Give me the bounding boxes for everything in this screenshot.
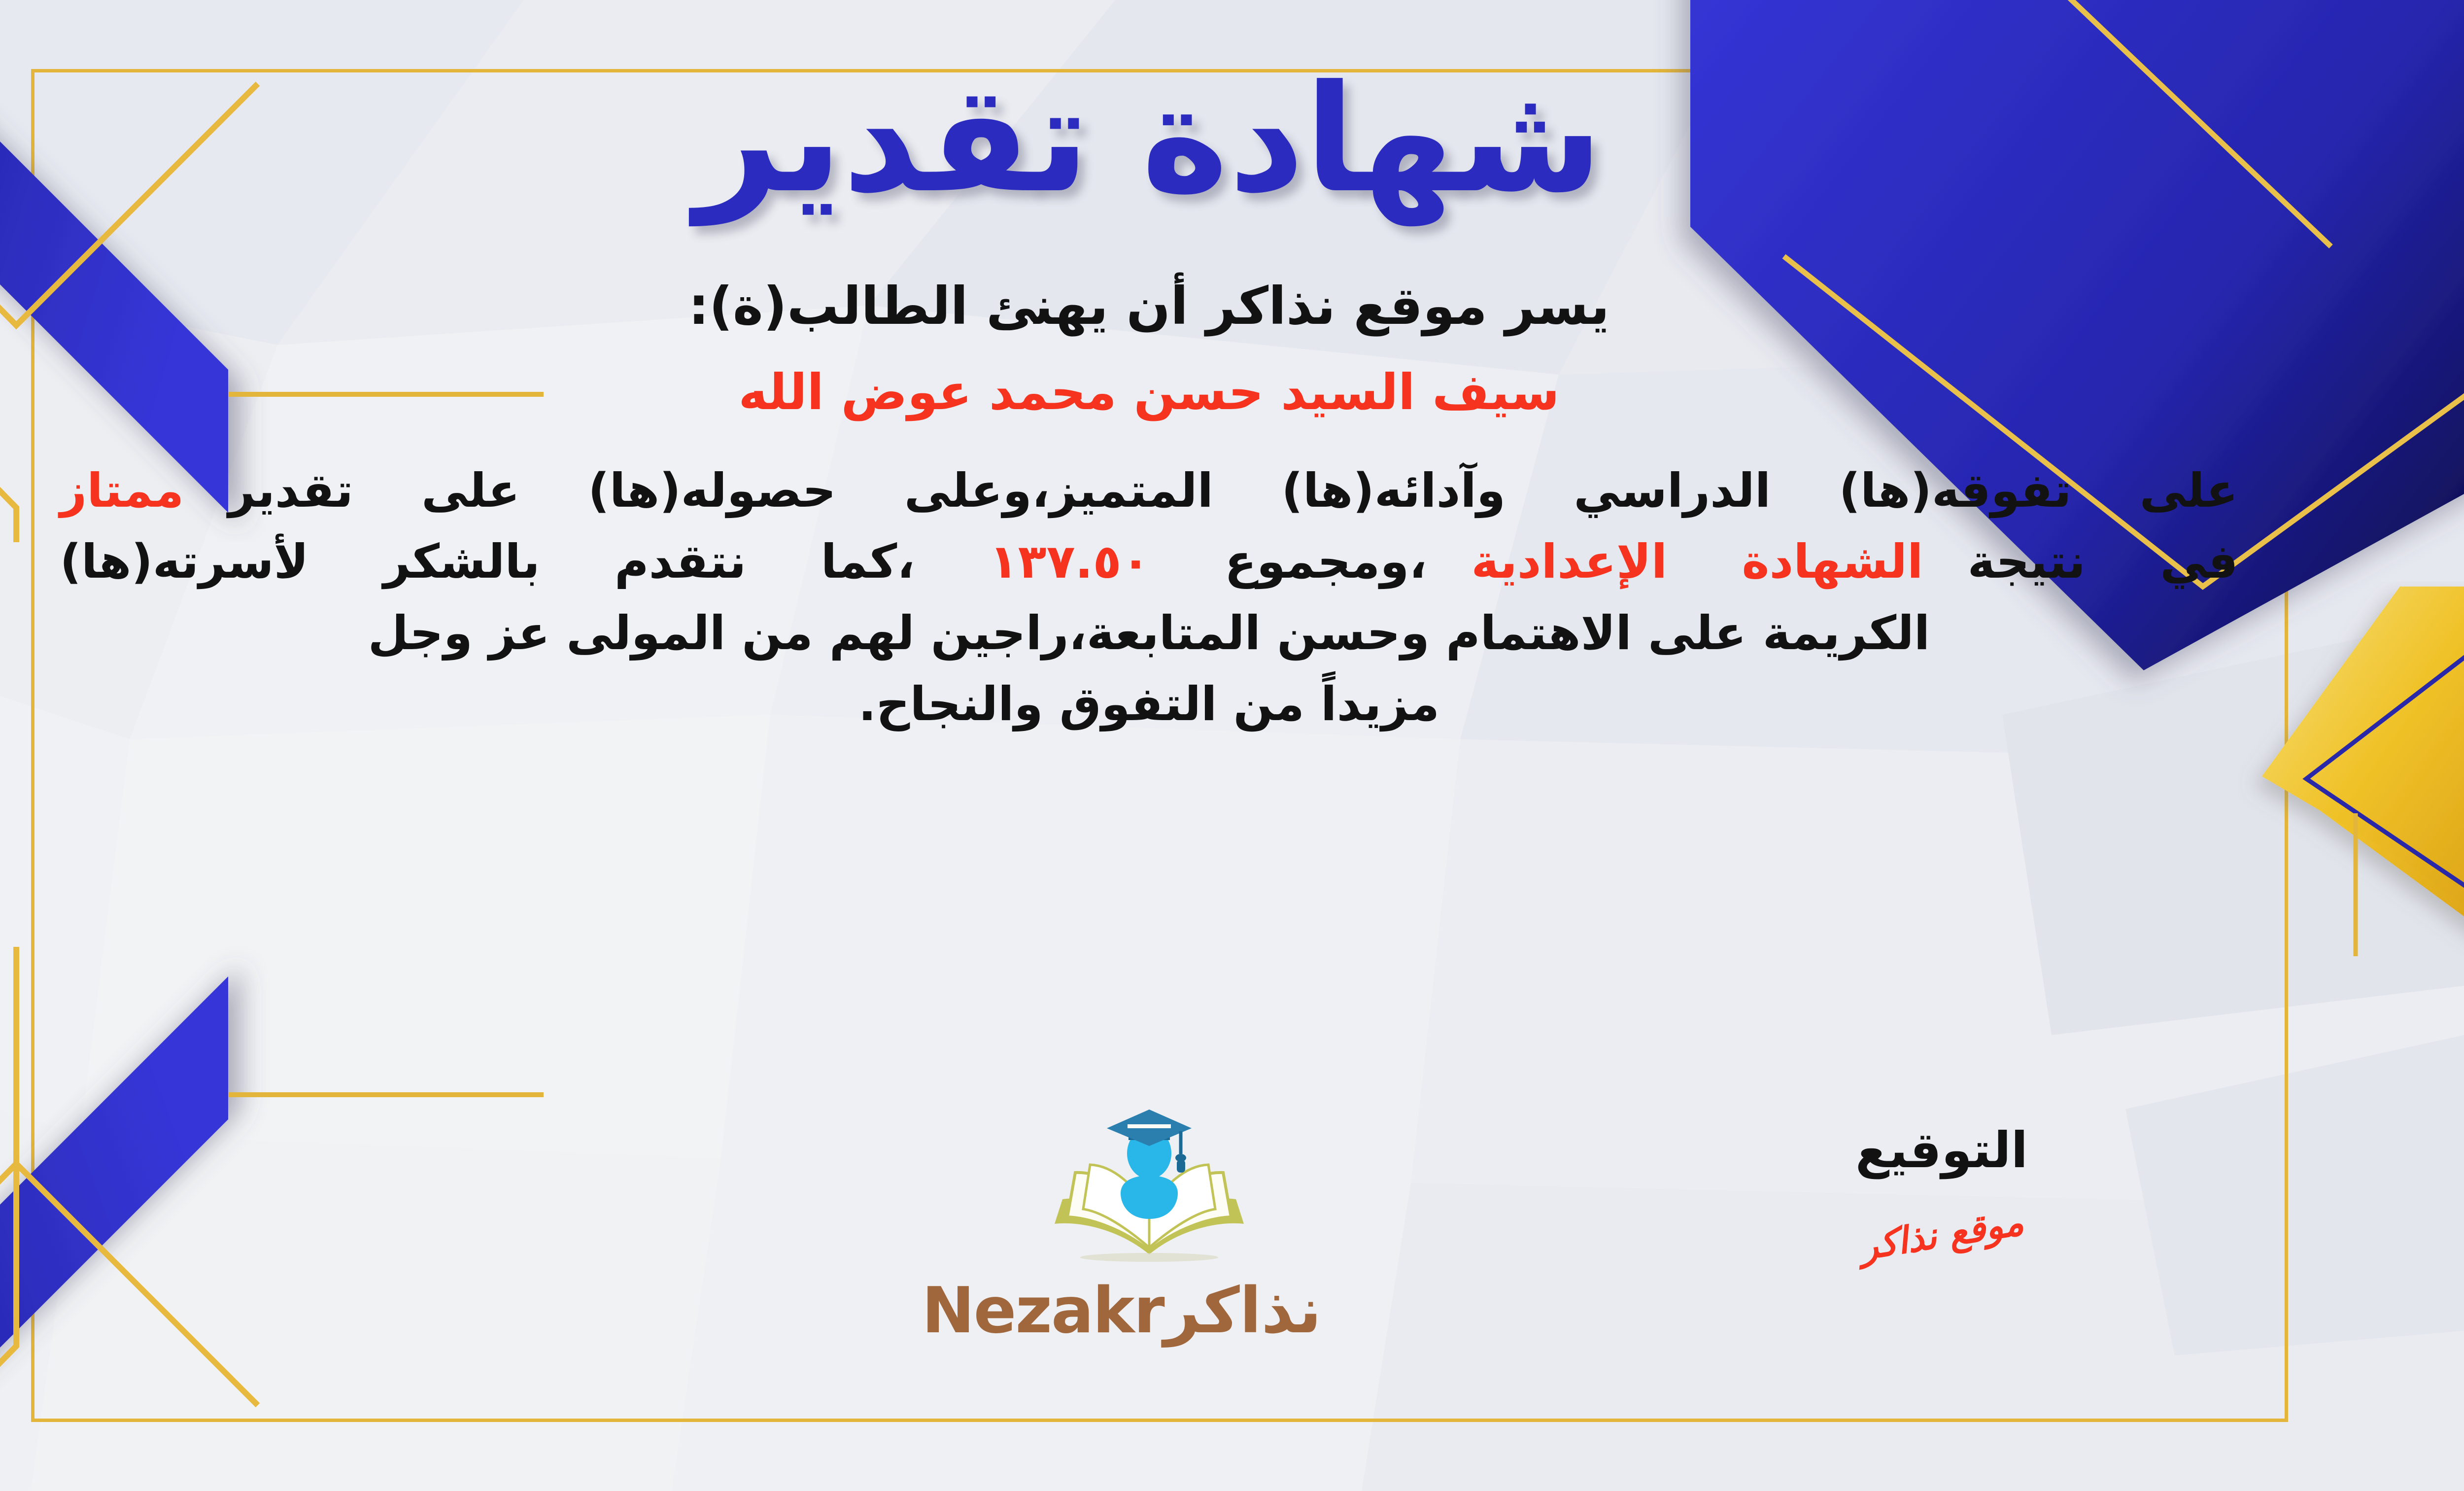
body-line-2-suffix: ،كما نتقدم بالشكر لأسرته(ها): [60, 535, 915, 589]
logo-wordmark: نذاكرNezakr: [977, 1274, 1322, 1348]
signature-label: التوقيع: [1804, 1121, 2080, 1179]
exam-name: الشهادة الإعدادية: [1472, 535, 1923, 589]
certificate-footer: التوقيع موقع نذاكر: [0, 1121, 2464, 1397]
body-line-1-text: على تفوقه(ها) الدراسي وآدائه(ها) المتميز…: [228, 464, 2238, 518]
body-line-2-prefix: في نتيجة: [1968, 535, 2238, 589]
logo-graphic: [1046, 1107, 1253, 1269]
logo-latin-text: Nezakr: [922, 1274, 1164, 1348]
certificate-canvas: شهادة تقدير يسر موقع نذاكر أن يهنئ الطال…: [0, 0, 2464, 1491]
body-line-4: مزيداً من التفوق والنجاح.: [60, 669, 2238, 740]
certificate-body: على تفوقه(ها) الدراسي وآدائه(ها) المتميز…: [60, 455, 2238, 740]
body-line-3: الكريمة على الاهتمام وحسن المتابعة،راجين…: [60, 598, 2238, 669]
body-line-1: على تفوقه(ها) الدراسي وآدائه(ها) المتميز…: [60, 455, 2238, 526]
body-line-2-mid: ،ومجموع: [1225, 535, 1427, 589]
certificate-title: شهادة تقدير: [695, 54, 1603, 224]
intro-line: يسر موقع نذاكر أن يهنئ الطالب(ة):: [688, 276, 1609, 336]
grade-value: ممتاز: [60, 464, 184, 518]
signature-block: التوقيع موقع نذاكر: [1804, 1121, 2080, 1256]
nezakr-logo: نذاكرNezakr: [977, 1107, 1322, 1348]
student-name: سيف السيد حسن محمد عوض الله: [739, 363, 1560, 421]
total-score: ١٣٧.٥٠: [990, 535, 1150, 589]
body-line-2: في نتيجةالشهادة الإعدادية،ومجموع ١٣٧.٥٠ …: [60, 526, 2238, 597]
logo-arabic-text: نذاكر: [1164, 1274, 1322, 1348]
signature-handwriting: موقع نذاكر: [1802, 1192, 2082, 1278]
